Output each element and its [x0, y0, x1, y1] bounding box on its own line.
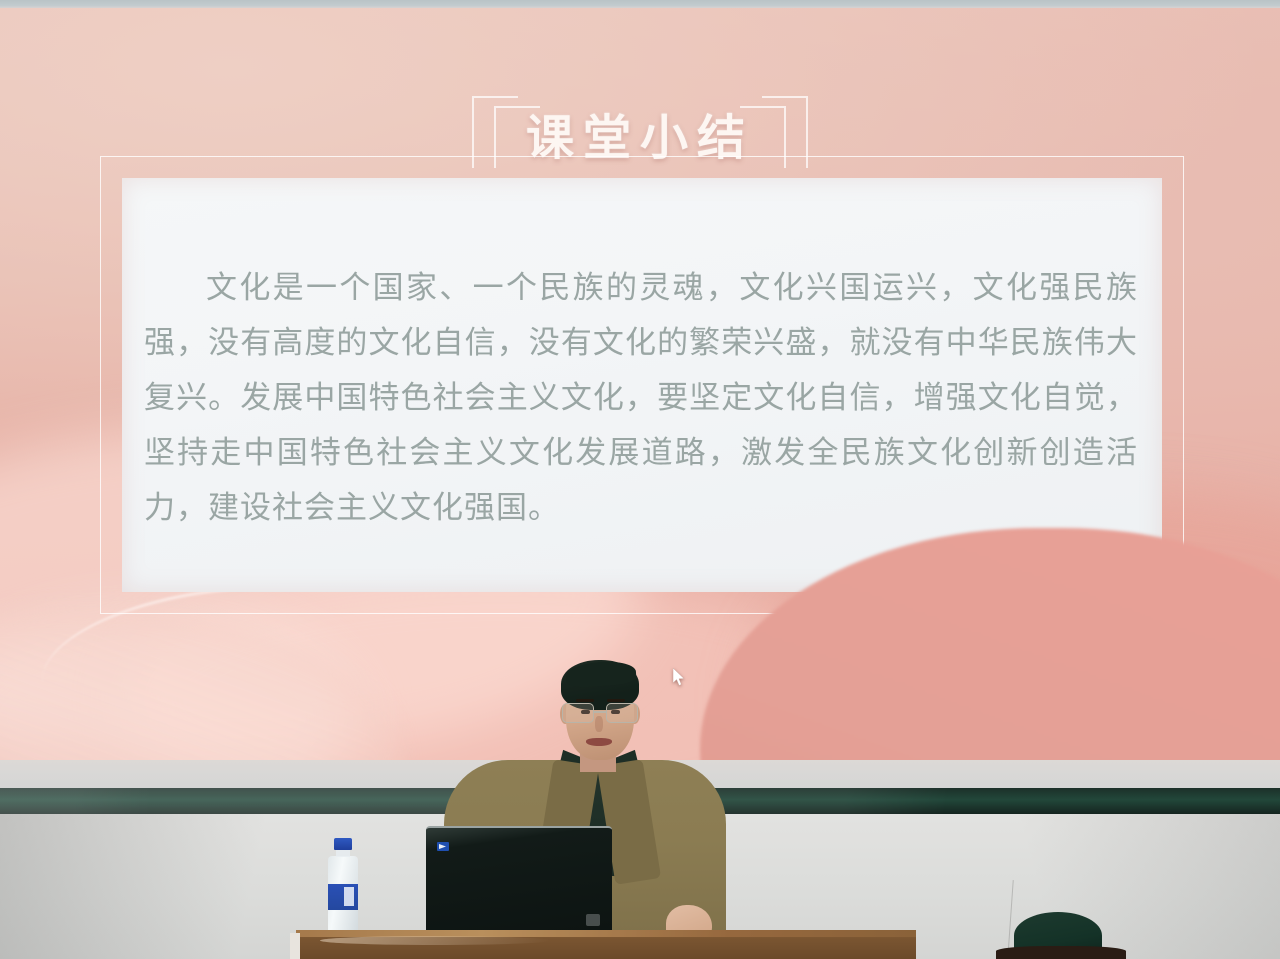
bottle-label	[328, 884, 358, 910]
laptop-logo-badge	[586, 914, 600, 926]
bottle-cap	[334, 838, 352, 850]
presenter-nose	[595, 716, 603, 732]
eyeglass-lens-left	[562, 703, 594, 723]
bottle-neck	[336, 849, 350, 857]
podium-left-edge	[290, 933, 300, 959]
laptop	[426, 826, 612, 939]
presenter-mouth	[586, 738, 612, 746]
presenter-eyebrow-right	[607, 699, 625, 702]
eyeglass-lens-right	[606, 703, 638, 723]
presenter-eyebrow-left	[576, 699, 594, 702]
water-bottle	[325, 838, 361, 942]
slide-body-text: 文化是一个国家、一个民族的灵魂，文化兴国运兴，文化强民族强，没有高度的文化自信，…	[144, 260, 1138, 535]
projection-screen: 课堂小结 文化是一个国家、一个民族的灵魂，文化兴国运兴，文化强民族强，没有高度的…	[0, 8, 1280, 760]
podium-highlight	[320, 936, 550, 945]
laptop-lid	[426, 826, 612, 932]
lecture-scene: 课堂小结 文化是一个国家、一个民族的灵魂，文化兴国运兴，文化强民族强，没有高度的…	[0, 0, 1280, 959]
eyeglass-bridge	[594, 711, 606, 713]
audience-shoulder	[996, 946, 1126, 959]
laptop-sticker-icon	[437, 842, 449, 851]
